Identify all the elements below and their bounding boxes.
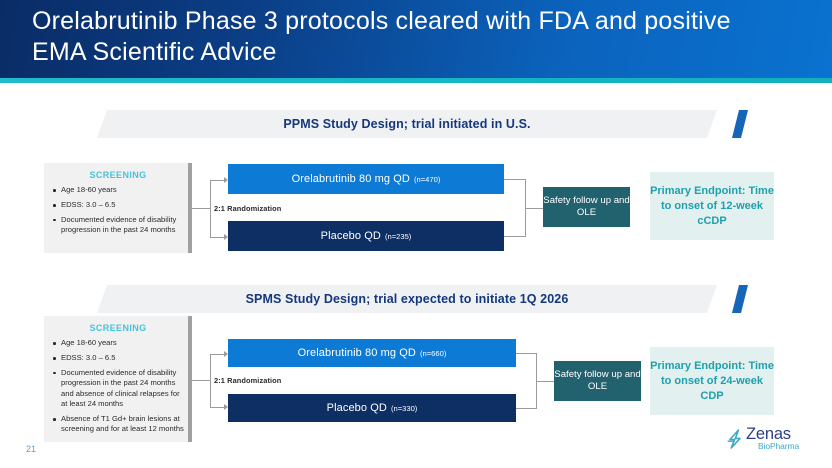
ppms-section-bar: PPMS Study Design; trial initiated in U.… [97,110,717,138]
ppms-rand-spine [210,180,211,237]
ppms-join-bottom [504,236,525,237]
ppms-treatment-arm-n: (n=470) [414,175,440,184]
spms-safety-box: Safety follow up and OLE [554,361,641,401]
spms-section-title: SPMS Study Design; trial expected to ini… [97,285,717,313]
spms-rand-spine [210,354,211,407]
ppms-section-marker [732,110,748,138]
spms-section-marker [732,285,748,313]
list-item: Documented evidence of disability progre… [53,215,186,236]
spms-section-bar: SPMS Study Design; trial expected to ini… [97,285,717,313]
ppms-screening-list: Age 18-60 years EDSS: 3.0 – 6.5 Document… [44,180,192,236]
list-item: Age 18-60 years [53,338,186,348]
slide: Orelabrutinib Phase 3 protocols cleared … [0,0,832,468]
spms-placebo-arm: Placebo QD (n=330) [228,394,516,422]
spms-treatment-arm-label: Orelabrutinib 80 mg QD [298,347,416,359]
list-item: EDSS: 3.0 – 6.5 [53,353,186,363]
spms-endpoint-box: Primary Endpoint: Time to onset of 24-we… [650,347,774,415]
spms-treatment-arm-n: (n=660) [420,349,446,358]
spms-join-top [516,353,536,354]
ppms-rand-branch-bottom [210,237,224,238]
ppms-endpoint-box: Primary Endpoint: Time to onset of 12-we… [650,172,774,240]
ppms-join-stem [525,208,543,209]
list-item: Absence of T1 Gd+ brain lesions at scree… [53,414,186,435]
ppms-section-title: PPMS Study Design; trial initiated in U.… [97,110,717,138]
ppms-placebo-arm-n: (n=235) [385,232,411,241]
ppms-screening-box: SCREENING Age 18-60 years EDSS: 3.0 – 6.… [44,163,192,253]
spms-screening-list: Age 18-60 years EDSS: 3.0 – 6.5 Document… [44,333,192,435]
spms-join-stem [536,381,554,382]
ppms-rand-stem [192,208,210,209]
list-item: Age 18-60 years [53,185,186,195]
lightning-bolt-icon [726,429,744,449]
ppms-rand-branch-top [210,180,224,181]
spms-treatment-arm: Orelabrutinib 80 mg QD (n=660) [228,339,516,367]
list-item: EDSS: 3.0 – 6.5 [53,200,186,210]
ppms-join-top [504,179,525,180]
spms-rand-branch-top [210,354,224,355]
spms-rand-branch-bottom [210,407,224,408]
ppms-randomization-label: 2:1 Randomization [214,204,281,213]
spms-join-bottom [516,408,536,409]
ppms-safety-box: Safety follow up and OLE [543,187,630,227]
spms-placebo-arm-n: (n=330) [391,404,417,413]
spms-randomization-label: 2:1 Randomization [214,376,281,385]
spms-placebo-arm-label: Placebo QD [327,402,387,414]
spms-rand-stem [192,380,210,381]
logo-subtitle: BioPharma [758,441,799,451]
ppms-placebo-arm-label: Placebo QD [321,230,381,242]
ppms-treatment-arm-label: Orelabrutinib 80 mg QD [292,173,410,185]
spms-screening-box: SCREENING Age 18-60 years EDSS: 3.0 – 6.… [44,316,192,442]
ppms-treatment-arm: Orelabrutinib 80 mg QD (n=470) [228,164,504,194]
ppms-placebo-arm: Placebo QD (n=235) [228,221,504,251]
spms-screening-heading: SCREENING [44,316,192,333]
zenas-biopharma-logo: Zenas BioPharma [726,426,814,456]
list-item: Documented evidence of disability progre… [53,368,186,410]
header-accent-bar [0,78,832,83]
page-title: Orelabrutinib Phase 3 protocols cleared … [32,6,772,68]
slide-header: Orelabrutinib Phase 3 protocols cleared … [0,0,832,78]
spms-screening-divider [188,316,192,442]
page-number: 21 [26,444,36,454]
ppms-screening-heading: SCREENING [44,163,192,180]
